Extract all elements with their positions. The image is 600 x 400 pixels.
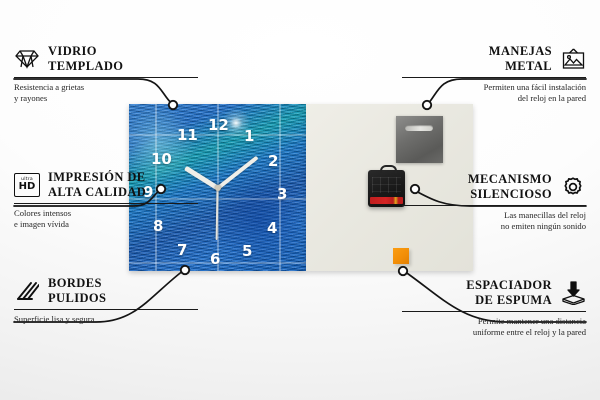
feature-description: Permite mantener una distancia uniforme … xyxy=(402,316,586,337)
mechanism-hanger-loop xyxy=(380,165,397,173)
infographic-canvas: 12 1 2 3 4 5 6 7 8 9 10 11 xyxy=(0,0,600,400)
feature-divider xyxy=(14,77,198,78)
clock-numeral-2: 2 xyxy=(268,154,278,169)
feature-desc-line2: uniforme entre el reloj y la pared xyxy=(473,327,586,337)
ultra-hd-badge-icon: ultra HD xyxy=(14,172,40,198)
foam-spacer-arrow-icon xyxy=(560,280,586,306)
clock-mechanism xyxy=(368,170,405,207)
feature-desc-line1: Permite mantener una distancia xyxy=(478,316,586,326)
feature-title-line1: IMPRESIÓN DE xyxy=(48,170,146,184)
feature-title-line1: MANEJAS xyxy=(489,44,552,58)
feature-description: Permiten una fácil instalación del reloj… xyxy=(402,82,586,103)
feature-desc-line1: Permiten una fácil instalación xyxy=(484,82,586,92)
feature-header: MECANISMO SILENCIOSO xyxy=(402,172,586,202)
feature-divider xyxy=(14,203,198,204)
clock-numeral-10: 10 xyxy=(151,152,172,167)
feature-vidrio-templado: VIDRIO TEMPLADO Resistencia a grietas y … xyxy=(14,44,198,104)
clock-numeral-5: 5 xyxy=(242,244,252,259)
feature-divider xyxy=(402,311,586,312)
mechanism-texture xyxy=(372,177,401,193)
hd-label: HD xyxy=(19,182,36,192)
feature-desc-line2: y rayones xyxy=(14,93,47,103)
feature-title: MANEJAS METAL xyxy=(489,44,552,74)
feature-description: Resistencia a grietas y rayones xyxy=(14,82,198,103)
feature-desc-line1: Superficie lisa y segura xyxy=(14,314,94,324)
wall-mount-frame-icon xyxy=(560,46,586,72)
clock-numeral-7: 7 xyxy=(177,243,187,258)
clock-numeral-12: 12 xyxy=(208,118,229,133)
clock-numeral-11: 11 xyxy=(177,128,198,143)
clock-numeral-1: 1 xyxy=(244,129,254,144)
feature-header: ultra HD IMPRESIÓN DE ALTA CALIDAD xyxy=(14,170,198,200)
feature-divider xyxy=(402,205,586,206)
hanger-keyhole-slot xyxy=(405,125,433,131)
feature-espaciador-espuma: ESPACIADOR DE ESPUMA Permite mantener un… xyxy=(402,278,586,338)
clock-numeral-4: 4 xyxy=(267,221,277,236)
feature-description: Las manecillas del reloj no emiten ningú… xyxy=(402,210,586,231)
feature-title: MECANISMO SILENCIOSO xyxy=(468,172,552,202)
diamond-icon xyxy=(14,46,40,72)
feature-divider xyxy=(402,77,586,78)
feature-title-line2: ALTA CALIDAD xyxy=(48,185,146,199)
feature-header: ESPACIADOR DE ESPUMA xyxy=(402,278,586,308)
polished-edges-icon xyxy=(14,278,40,304)
feature-title: IMPRESIÓN DE ALTA CALIDAD xyxy=(48,170,146,200)
feature-title-line1: VIDRIO xyxy=(48,44,97,58)
feature-desc-line1: Resistencia a grietas xyxy=(14,82,84,92)
feature-title: VIDRIO TEMPLADO xyxy=(48,44,123,74)
feature-title-line2: TEMPLADO xyxy=(48,59,123,73)
feature-desc-line2: no emiten ningún sonido xyxy=(501,221,586,231)
feature-desc-line1: Las manecillas del reloj xyxy=(504,210,586,220)
feature-header: VIDRIO TEMPLADO xyxy=(14,44,198,74)
mechanism-battery-label xyxy=(370,197,403,204)
foam-spacer-square xyxy=(393,248,409,264)
feature-title-line1: BORDES xyxy=(48,276,102,290)
feature-desc-line2: del reloj en la pared xyxy=(518,93,586,103)
clock-numeral-6: 6 xyxy=(210,252,220,267)
feature-divider xyxy=(14,309,198,310)
feature-title-line2: METAL xyxy=(505,59,552,73)
feature-manejas-metal: MANEJAS METAL Permiten una fácil instala… xyxy=(402,44,586,104)
clock-numeral-3: 3 xyxy=(277,187,287,202)
feature-desc-line1: Colores intensos xyxy=(14,208,71,218)
feature-header: MANEJAS METAL xyxy=(402,44,586,74)
metal-hanger-plate xyxy=(396,116,443,163)
gear-icon xyxy=(560,174,586,200)
feature-bordes-pulidos: BORDES PULIDOS Superficie lisa y segura xyxy=(14,276,198,325)
feature-description: Superficie lisa y segura xyxy=(14,314,198,325)
feature-header: BORDES PULIDOS xyxy=(14,276,198,306)
feature-mecanismo-silencioso: MECANISMO SILENCIOSO Las manecillas del … xyxy=(402,172,586,232)
feature-impresion-alta-calidad: ultra HD IMPRESIÓN DE ALTA CALIDAD Color… xyxy=(14,170,198,230)
feature-description: Colores intensos e imagen vívida xyxy=(14,208,198,229)
feature-title-line1: ESPACIADOR xyxy=(466,278,552,292)
feature-desc-line2: e imagen vívida xyxy=(14,219,69,229)
feature-title-line2: PULIDOS xyxy=(48,291,106,305)
feature-title: BORDES PULIDOS xyxy=(48,276,106,306)
feature-title-line1: MECANISMO xyxy=(468,172,552,186)
clock-hand-hub xyxy=(215,185,221,191)
feature-title-line2: DE ESPUMA xyxy=(475,293,552,307)
feature-title-line2: SILENCIOSO xyxy=(470,187,552,201)
feature-title: ESPACIADOR DE ESPUMA xyxy=(466,278,552,308)
